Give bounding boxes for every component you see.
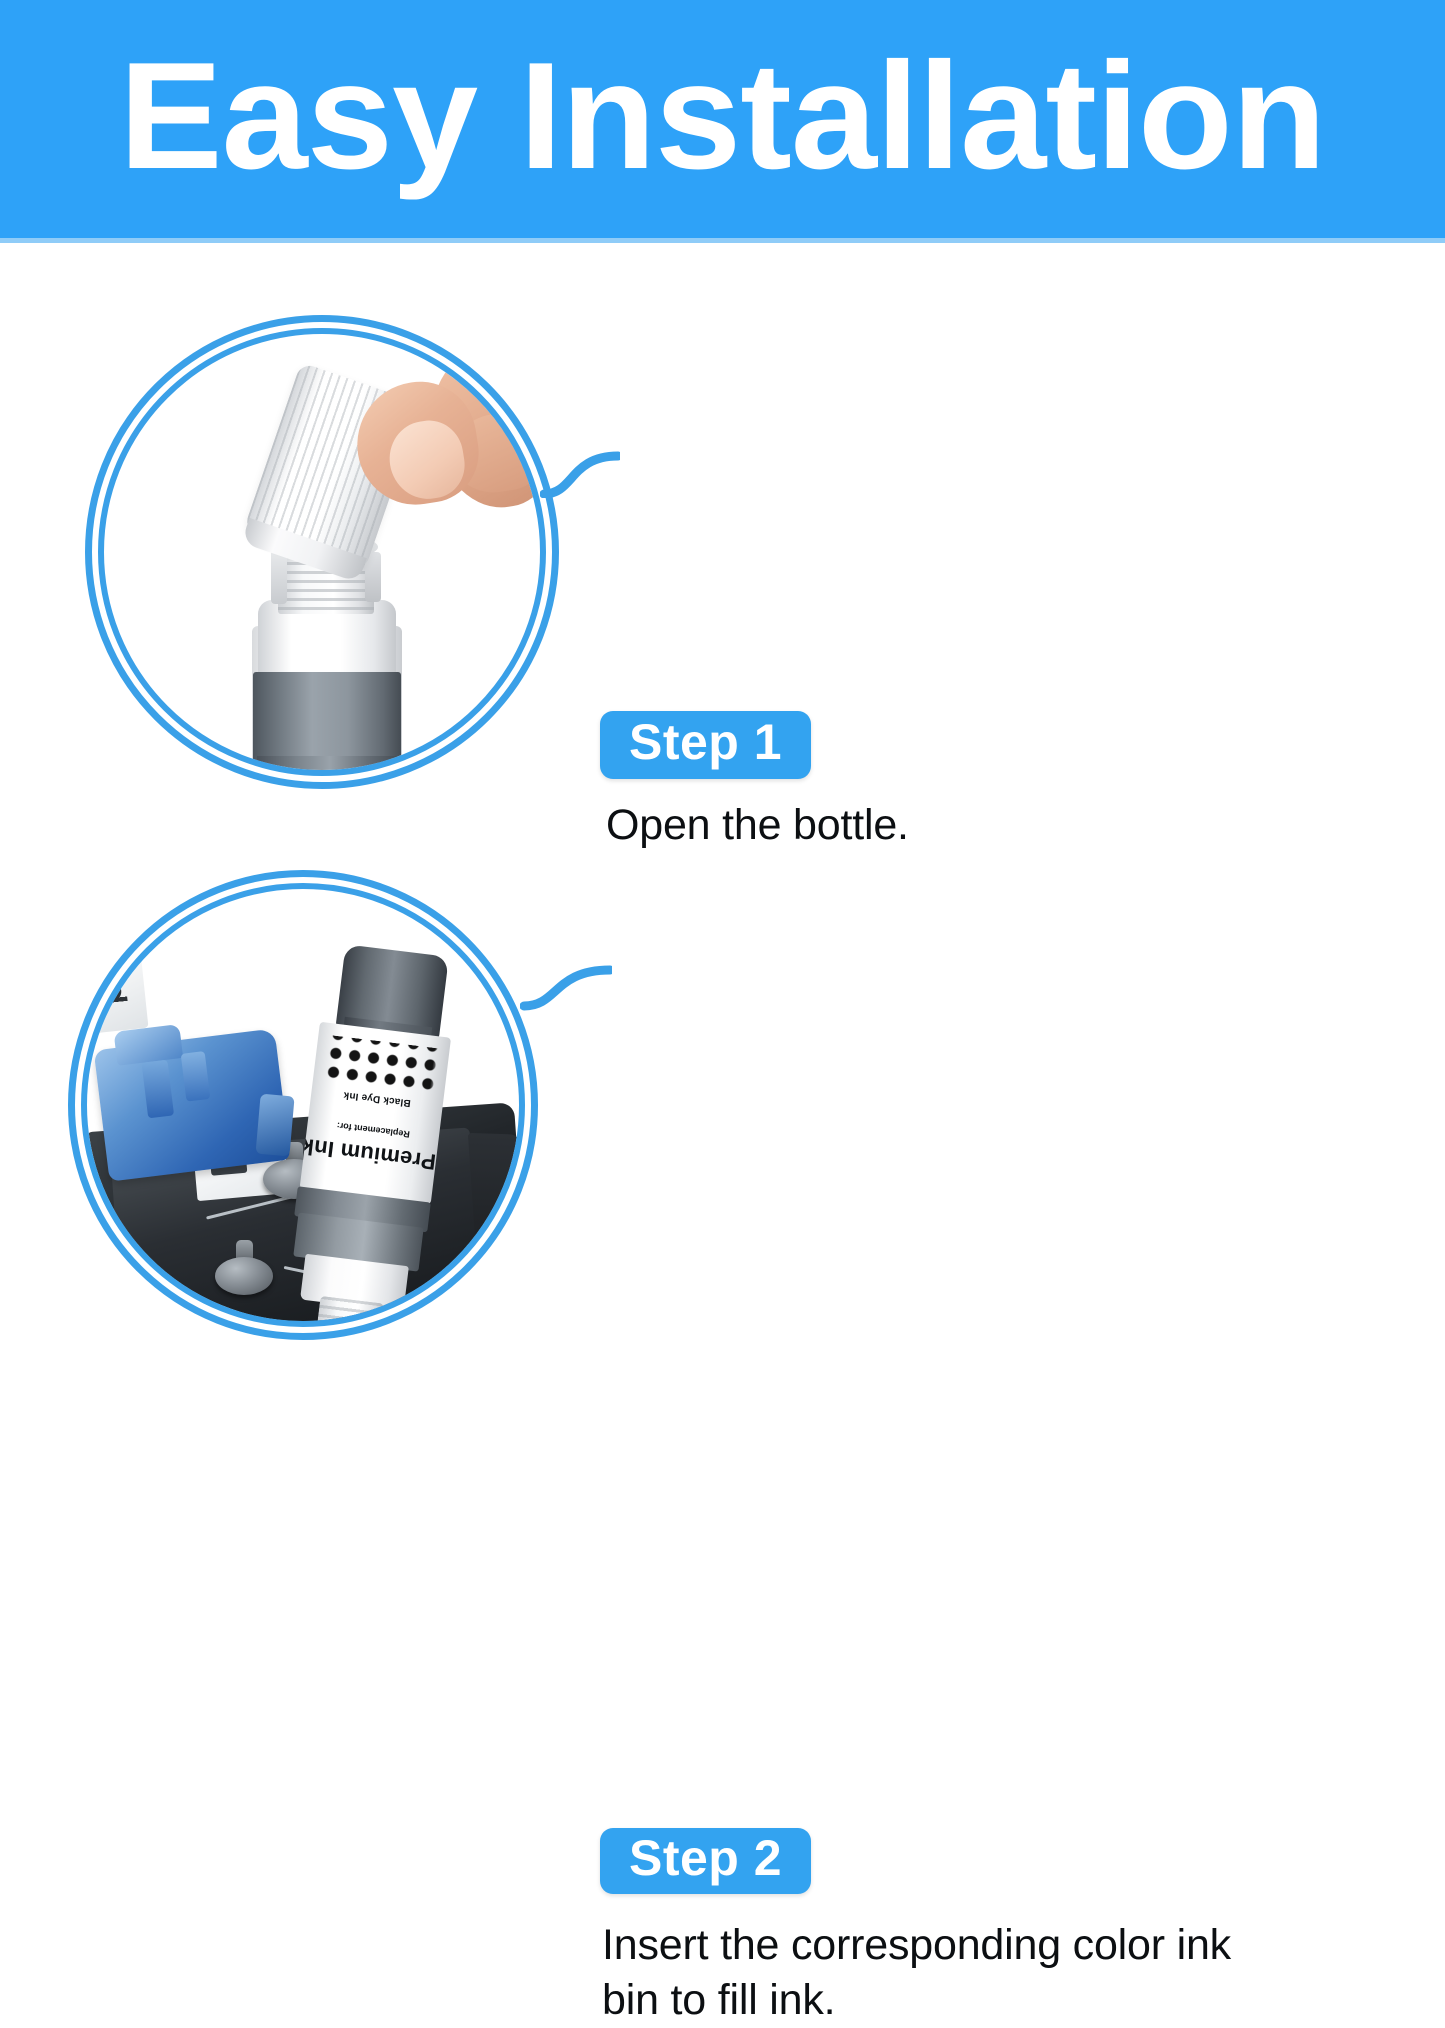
- plug-disc: [215, 1257, 273, 1295]
- step-1-photo: Premium Ink: [104, 334, 540, 770]
- open-bottle-illustration: Premium Ink: [104, 334, 540, 770]
- printer-sticker: [87, 958, 148, 1034]
- printer-blue-lid: [94, 1028, 291, 1181]
- label-diamond-pattern: [321, 1035, 442, 1095]
- step-1-badge-label: Step 1: [629, 713, 782, 771]
- step-1-badge: Step 1: [600, 711, 811, 779]
- step-2-instruction-line-2: bin to fill ink.: [602, 1973, 1322, 2028]
- tank-rubber-plug: [215, 1257, 273, 1295]
- bottle-gray-band: [253, 672, 401, 768]
- header-banner: Easy Installation: [0, 0, 1445, 243]
- step-1-section: Premium Ink Step 1 Open the bottle.: [0, 243, 1445, 809]
- hand-holding-cap: [326, 337, 540, 558]
- bottle-label: Black Dye Ink Replacement for: Premium I…: [300, 1022, 451, 1205]
- thumbnail: [384, 416, 469, 505]
- step-2-section: Black Dye Ink Replacement for: Premium I…: [0, 820, 1445, 1375]
- page-title: Easy Installation: [119, 40, 1325, 204]
- step-2-badge: Step 2: [600, 1828, 811, 1894]
- step-1-photo-circle: Premium Ink: [85, 315, 559, 789]
- step-2-photo: Black Dye Ink Replacement for: Premium I…: [87, 889, 519, 1321]
- step-2-instruction: Insert the corresponding color ink bin t…: [602, 1918, 1322, 2028]
- step-2-badge-label: Step 2: [629, 1829, 782, 1887]
- step-2-instruction-line-1: Insert the corresponding color ink: [602, 1918, 1322, 1973]
- lid-hinge: [256, 1094, 295, 1157]
- step-2-photo-circle: Black Dye Ink Replacement for: Premium I…: [68, 870, 538, 1340]
- insert-bottle-illustration: Black Dye Ink Replacement for: Premium I…: [87, 889, 519, 1321]
